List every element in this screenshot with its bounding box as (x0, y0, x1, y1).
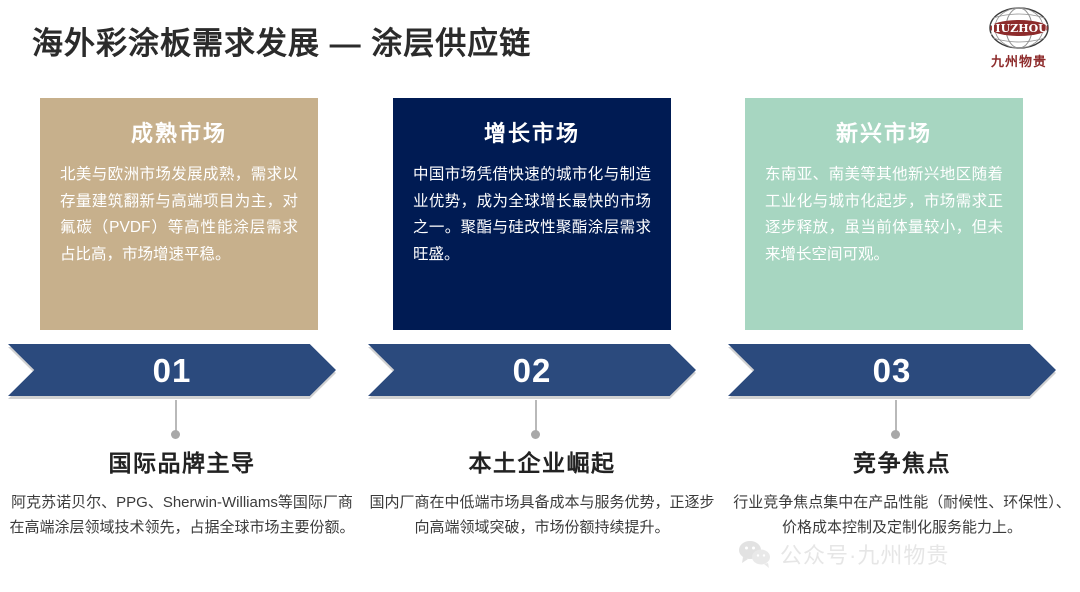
banner-02[interactable]: 02 (368, 344, 696, 396)
banner-number: 01 (153, 354, 192, 387)
connector-dot-3 (891, 430, 900, 439)
market-card-growth[interactable]: 增长市场 中国市场凭借快速的城市化与制造业优势，成为全球增长最快的市场之一。聚酯… (393, 98, 671, 330)
card-body: 北美与欧洲市场发展成熟，需求以存量建筑翻新与高端项目为主，对氟碳（PVDF）等高… (60, 162, 298, 269)
card-body: 东南亚、南美等其他新兴地区随着工业化与城市化起步，市场需求正逐步释放，虽当前体量… (765, 162, 1003, 269)
card-title: 新兴市场 (765, 116, 1003, 148)
page-title: 海外彩涂板需求发展 — 涂层供应链 (32, 18, 531, 63)
banner-number: 02 (513, 354, 552, 387)
connector-dot-2 (531, 430, 540, 439)
connector-dot-1 (171, 430, 180, 439)
connector-line-1 (175, 400, 177, 432)
company-name: 九州物贵 (980, 51, 1058, 70)
block-title: 竞争焦点 (728, 444, 1076, 478)
company-logo: JIUZHOU 九州物贵 (980, 6, 1058, 82)
detail-block-international-brands: 国际品牌主导 阿克苏诺贝尔、PPG、Sherwin-Williams等国际厂商在… (8, 444, 356, 540)
card-title: 成熟市场 (60, 116, 298, 148)
connector-line-3 (895, 400, 897, 432)
detail-block-competition-focus: 竞争焦点 行业竞争焦点集中在产品性能（耐候性、环保性）、价格成本控制及定制化服务… (728, 444, 1076, 540)
connector-line-2 (535, 400, 537, 432)
detail-blocks: 国际品牌主导 阿克苏诺贝尔、PPG、Sherwin-Williams等国际厂商在… (0, 444, 1080, 592)
market-cards: 成熟市场 北美与欧洲市场发展成熟，需求以存量建筑翻新与高端项目为主，对氟碳（PV… (0, 98, 1080, 330)
slide-header: 海外彩涂板需求发展 — 涂层供应链 JIUZHOU 九州物贵 (0, 0, 1080, 92)
slide-canvas: 海外彩涂板需求发展 — 涂层供应链 JIUZHOU 九州物贵 成熟市场 (0, 0, 1080, 592)
block-body: 阿克苏诺贝尔、PPG、Sherwin-Williams等国际厂商在高端涂层领域技… (8, 490, 356, 540)
block-body: 行业竞争焦点集中在产品性能（耐候性、环保性）、价格成本控制及定制化服务能力上。 (728, 490, 1076, 540)
card-body: 中国市场凭借快速的城市化与制造业优势，成为全球增长最快的市场之一。聚酯与硅改性聚… (413, 162, 651, 269)
market-card-mature[interactable]: 成熟市场 北美与欧洲市场发展成熟，需求以存量建筑翻新与高端项目为主，对氟碳（PV… (40, 98, 318, 330)
block-title: 本土企业崛起 (368, 444, 716, 478)
globe-icon: JIUZHOU (988, 6, 1050, 50)
globe-logo-text: JIUZHOU (989, 22, 1048, 35)
block-body: 国内厂商在中低端市场具备成本与服务优势，正逐步向高端领域突破，市场份额持续提升。 (368, 490, 716, 540)
detail-block-local-enterprises: 本土企业崛起 国内厂商在中低端市场具备成本与服务优势，正逐步向高端领域突破，市场… (368, 444, 716, 540)
banner-number: 03 (873, 354, 912, 387)
card-title: 增长市场 (413, 116, 651, 148)
block-title: 国际品牌主导 (8, 444, 356, 478)
banner-01[interactable]: 01 (8, 344, 336, 396)
numbered-banners: 01 02 03 (0, 344, 1080, 400)
banner-03[interactable]: 03 (728, 344, 1056, 396)
market-card-emerging[interactable]: 新兴市场 东南亚、南美等其他新兴地区随着工业化与城市化起步，市场需求正逐步释放，… (745, 98, 1023, 330)
